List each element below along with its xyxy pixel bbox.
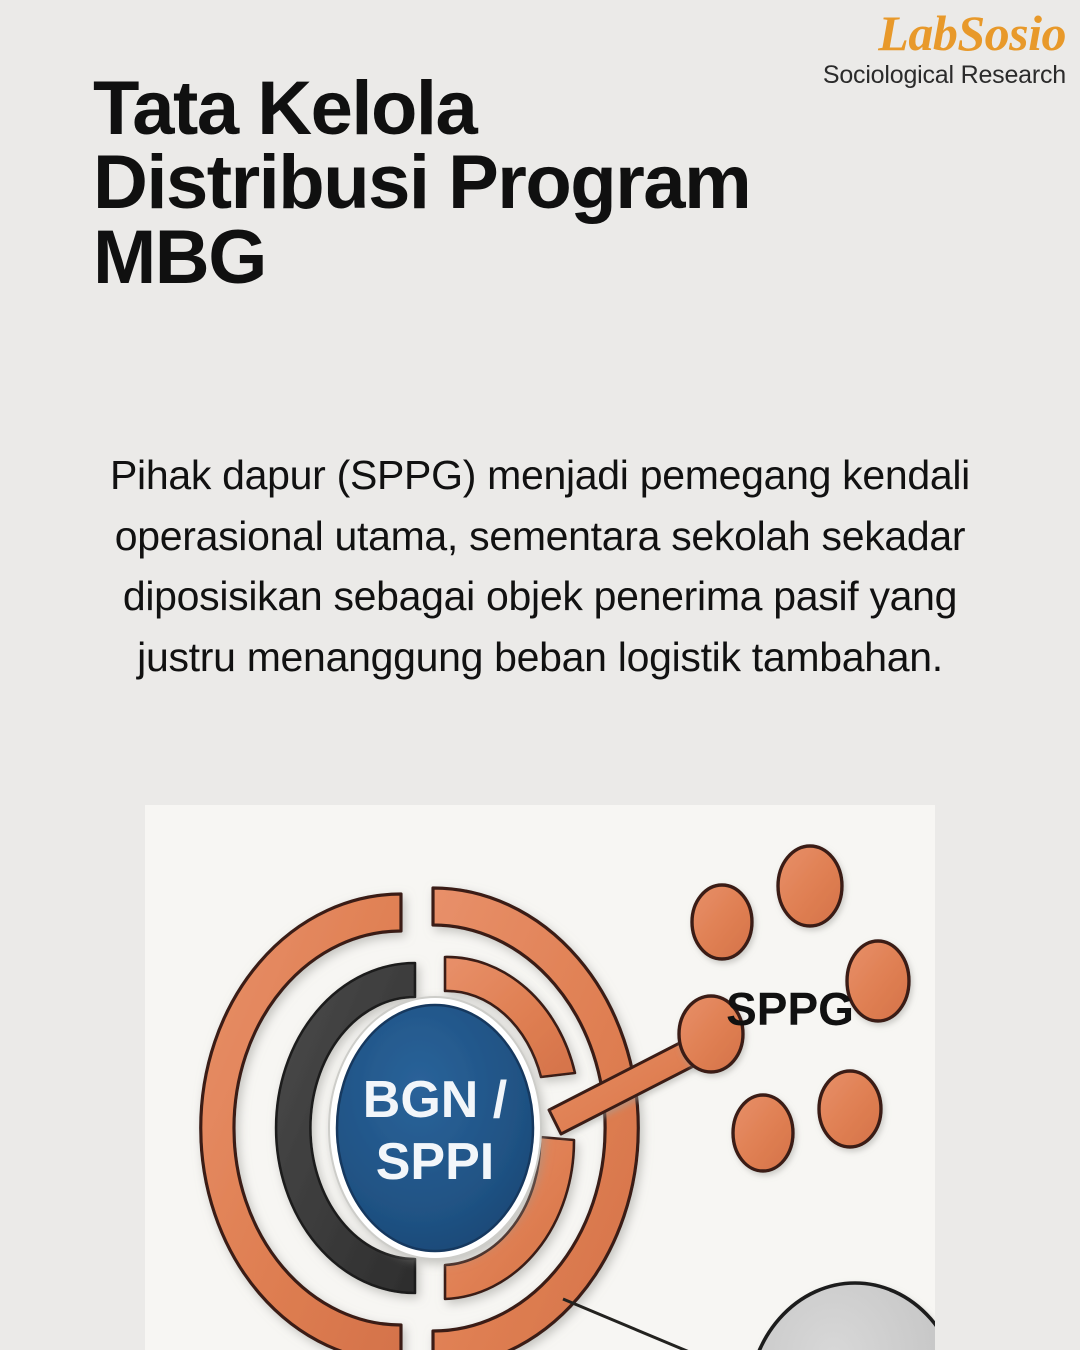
page-title-line-2: Distribusi Program: [93, 146, 953, 220]
governance-diagram: BGN / SPPI SPPG DINAS DAERAH: [145, 805, 935, 1350]
sppg-node-2: [778, 846, 842, 926]
sppg-cluster-label: SPPG: [726, 983, 854, 1035]
sppg-node-4: [819, 1071, 881, 1147]
core-label-line-2: SPPI: [376, 1133, 495, 1191]
page-title-line-3: MBG: [93, 221, 953, 295]
brand-wordmark: LabSosio: [823, 8, 1066, 58]
core-label-line-1: BGN /: [363, 1071, 507, 1129]
governance-diagram-panel: BGN / SPPI SPPG DINAS DAERAH: [145, 805, 935, 1350]
page-title-line-1: Tata Kelola: [93, 72, 953, 146]
sppg-node-3: [847, 941, 909, 1021]
body-paragraph: Pihak dapur (SPPG) menjadi pemegang kend…: [90, 445, 990, 688]
page-title: Tata Kelola Distribusi Program MBG: [93, 72, 953, 295]
sppg-node-5: [733, 1095, 793, 1171]
sppg-node-1: [692, 885, 752, 959]
